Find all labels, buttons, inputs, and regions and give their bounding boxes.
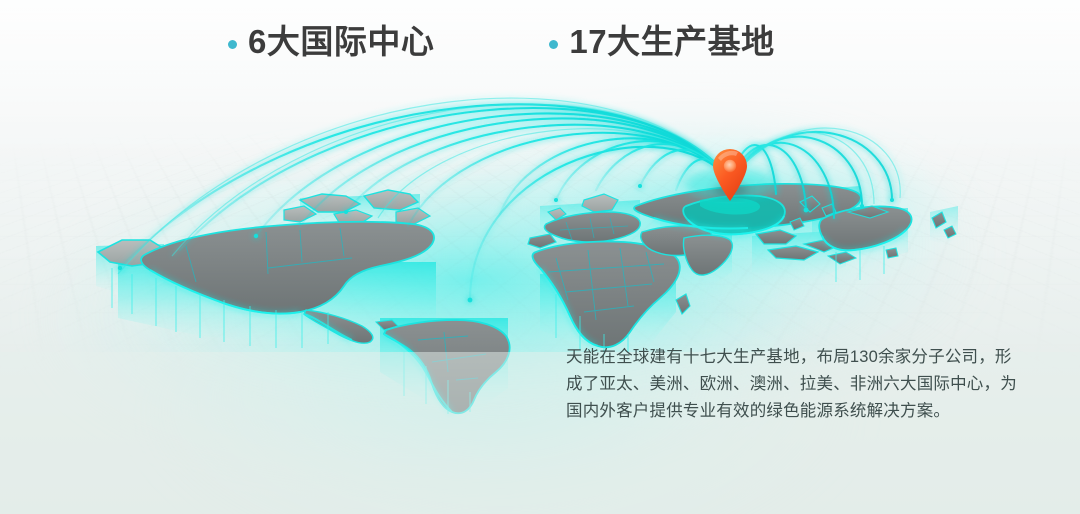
heading-production-bases-label: 17大生产基地: [569, 22, 774, 62]
description-paragraph: 天能在全球建有十七大生产基地，布局130余家分子公司，形 成了亚太、美洲、欧洲、…: [566, 344, 984, 425]
map-extrusion-skirts: [96, 186, 958, 412]
heading-row: 6大国际中心 17大生产基地: [0, 22, 1080, 62]
map-glow-rims: [150, 216, 906, 412]
description-line-2: 成了亚太、美洲、欧洲、澳洲、拉美、非洲六大国际中心，为: [566, 371, 984, 398]
glow-wash-center: [420, 120, 980, 400]
description-line-1: 天能在全球建有十七大生产基地，布局130余家分子公司，形: [566, 344, 984, 371]
glow-wash-left: [40, 150, 800, 480]
heading-international-centers: 6大国际中心: [228, 22, 434, 62]
connection-endpoints: [118, 184, 894, 302]
hexagon-texture: [0, 134, 1080, 383]
connection-arcs: [118, 98, 900, 300]
map-landmasses: [98, 184, 956, 413]
description-line-3: 国内外客户提供专业有效的绿色能源系统解决方案。: [566, 398, 984, 425]
map-light-streaks: [112, 246, 884, 414]
pin-shadow: [714, 184, 748, 196]
infographic-canvas: 6大国际中心 17大生产基地 天能在全球建有十七大生产基地，布局130余家分子公…: [0, 0, 1080, 514]
bullet-dot-icon: [228, 40, 237, 49]
world-map-graphic: [0, 0, 1080, 514]
heading-international-centers-label: 6大国际中心: [248, 22, 434, 62]
location-pin-marker: [708, 147, 752, 203]
glow-wash-bottom: [150, 300, 850, 514]
top-fade-overlay: [0, 0, 1080, 180]
bullet-dot-icon: [549, 40, 558, 49]
location-pin-icon: [708, 147, 752, 203]
heading-production-bases: 17大生产基地: [549, 22, 774, 62]
